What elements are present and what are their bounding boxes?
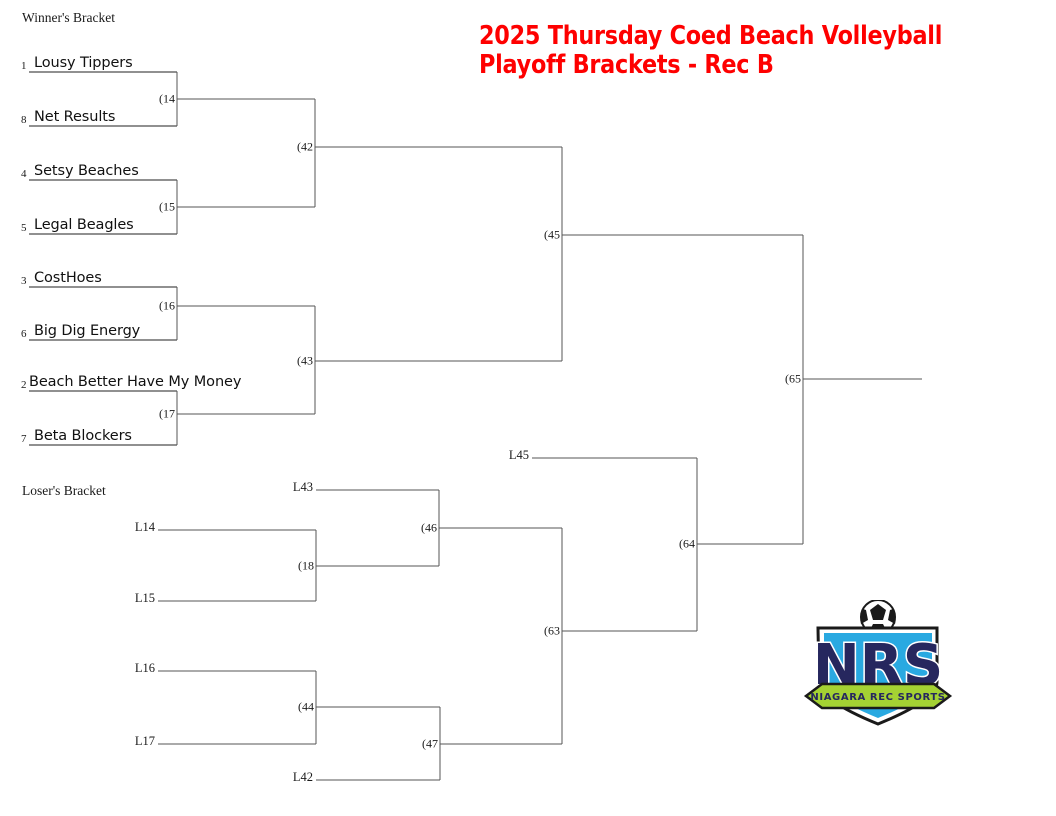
team-seed: 4 [21, 168, 27, 180]
feed-label-l17: L17 [135, 734, 158, 749]
feed-label-l15: L15 [135, 591, 158, 606]
game-label-16: (16 [159, 299, 175, 314]
losers-bracket-heading: Loser's Bracket [22, 483, 106, 499]
game-label-45: (45 [544, 228, 560, 243]
feed-label-l16: L16 [135, 661, 158, 676]
winners-bracket-heading: Winner's Bracket [22, 10, 115, 26]
team-seed: 1 [21, 60, 27, 72]
game-label-15: (15 [159, 200, 175, 215]
logo-ribbon-text: NIAGARA REC SPORTS [810, 692, 945, 703]
team-name: Big Dig Energy [34, 323, 140, 339]
game-label-64: (64 [679, 537, 695, 552]
game-label-17: (17 [159, 407, 175, 422]
feed-label-l45: L45 [509, 448, 532, 463]
page-title: 2025 Thursday Coed Beach Volleyball Play… [479, 22, 969, 80]
team-seed: 6 [21, 328, 27, 340]
playoff-bracket-page: 2025 Thursday Coed Beach Volleyball Play… [0, 0, 1056, 816]
team-name: Beta Blockers [34, 428, 132, 444]
team-seed: 7 [21, 433, 27, 445]
nrs-logo-graphic: NRS NIAGARA REC SPORTS [800, 600, 955, 728]
team-name: Setsy Beaches [34, 163, 139, 179]
team-name: Lousy Tippers [34, 55, 133, 71]
team-name: Legal Beagles [34, 217, 134, 233]
game-label-14: (14 [159, 92, 175, 107]
team-seed: 3 [21, 275, 27, 287]
team-name: Beach Better Have My Money [29, 374, 241, 390]
nrs-logo: NRS NIAGARA REC SPORTS [800, 600, 955, 728]
game-label-63: (63 [544, 624, 560, 639]
game-label-47: (47 [422, 737, 438, 752]
team-name: CostHoes [34, 270, 102, 286]
game-label-44: (44 [298, 700, 314, 715]
game-label-46: (46 [421, 521, 437, 536]
feed-label-l14: L14 [135, 520, 158, 535]
team-name: Net Results [34, 109, 115, 125]
team-seed: 5 [21, 222, 27, 234]
game-label-42: (42 [297, 140, 313, 155]
game-label-43: (43 [297, 354, 313, 369]
team-seed: 2 [21, 379, 27, 391]
game-label-18: (18 [298, 559, 314, 574]
team-seed: 8 [21, 114, 27, 126]
game-label-65: (65 [785, 372, 801, 387]
feed-label-l43: L43 [293, 480, 316, 495]
feed-label-l42: L42 [293, 770, 316, 785]
